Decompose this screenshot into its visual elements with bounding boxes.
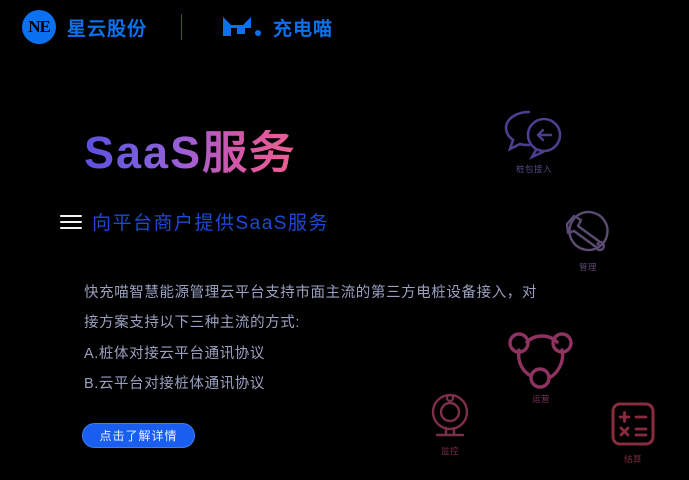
decoration-chat-access-label: 桩包接入: [516, 163, 552, 175]
hero-subtitle-row: 向平台商户提供SaaS服务: [60, 208, 329, 235]
page-root: NE 星云股份 充电喵 SaaS服务 向平台商户提供SaaS服务 快充喵智慧能源…: [0, 0, 689, 480]
decoration-settlement-label: 结算: [624, 453, 642, 465]
decoration-management: 管理: [560, 208, 616, 273]
hero-subtitle: 向平台商户提供SaaS服务: [92, 208, 329, 235]
calculator-icon: [607, 400, 659, 450]
decoration-management-label: 管理: [579, 261, 597, 273]
hero-bullet-a: A.桩体对接云平台通讯协议: [84, 339, 265, 369]
wrench-icon: [560, 208, 616, 258]
decoration-operations: 运营: [505, 328, 577, 405]
decoration-monitoring-label: 监控: [441, 445, 459, 457]
decoration-operations-label: 运营: [532, 393, 550, 405]
network-share-icon: [505, 328, 577, 390]
learn-more-button[interactable]: 点击了解详情: [82, 423, 195, 448]
chat-bubbles-icon: [498, 104, 570, 160]
decoration-chat-access: 桩包接入: [498, 104, 570, 175]
hero-body-line-1: 快充喵智慧能源管理云平台支持市面主流的第三方电桩设备接入，对: [84, 278, 576, 308]
decoration-settlement: 结算: [607, 400, 659, 465]
hero-bullet-list: A.桩体对接云平台通讯协议 B.云平台对接桩体通讯协议: [84, 339, 265, 399]
hamburger-icon: [60, 215, 82, 229]
page-title: SaaS服务: [84, 130, 296, 175]
camera-monitor-icon: [427, 392, 473, 442]
hero-body-text: 快充喵智慧能源管理云平台支持市面主流的第三方电桩设备接入，对 接方案支持以下三种…: [84, 278, 576, 338]
hero-bullet-b: B.云平台对接桩体通讯协议: [84, 369, 265, 399]
decoration-monitoring: 监控: [427, 392, 473, 457]
hero-body-line-2: 接方案支持以下三种主流的方式:: [84, 308, 576, 338]
